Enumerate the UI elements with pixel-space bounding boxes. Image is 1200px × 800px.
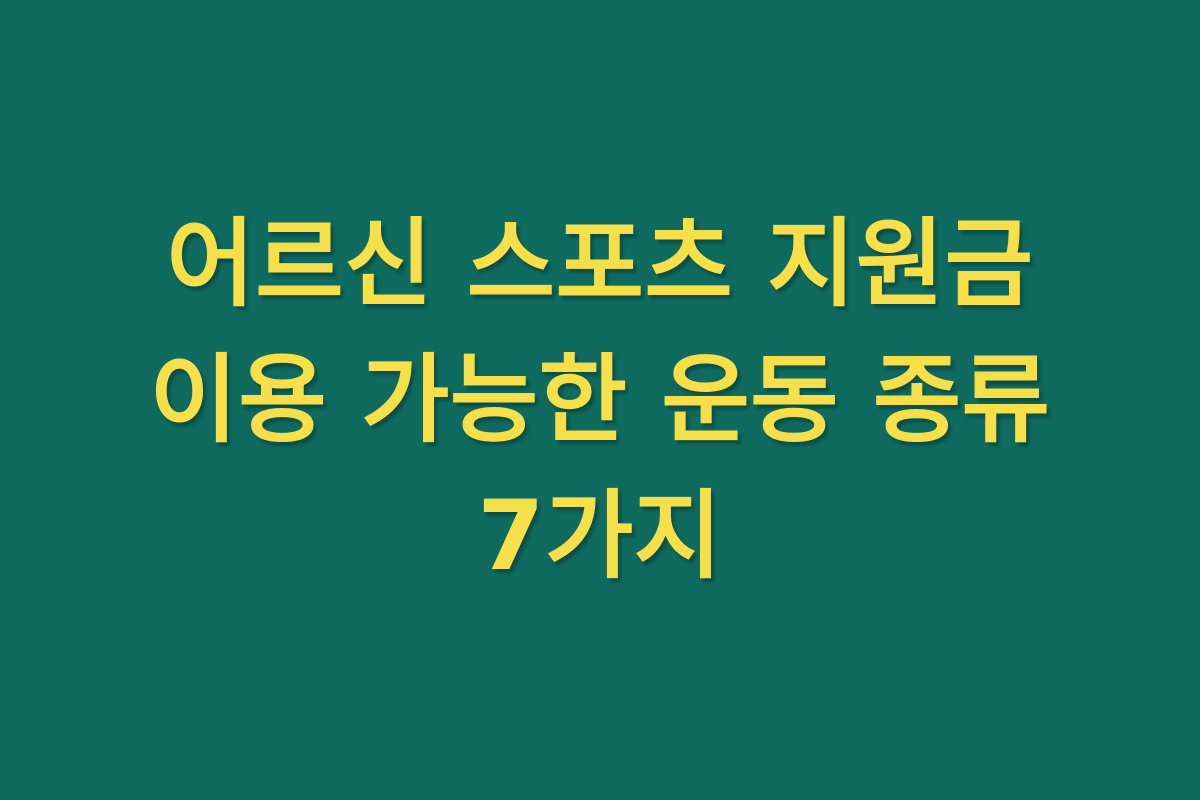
thumbnail-banner: 어르신 스포츠 지원금 이용 가능한 운동 종류 7가지 [0, 0, 1200, 800]
banner-headline: 어르신 스포츠 지원금 이용 가능한 운동 종류 7가지 [95, 196, 1105, 605]
